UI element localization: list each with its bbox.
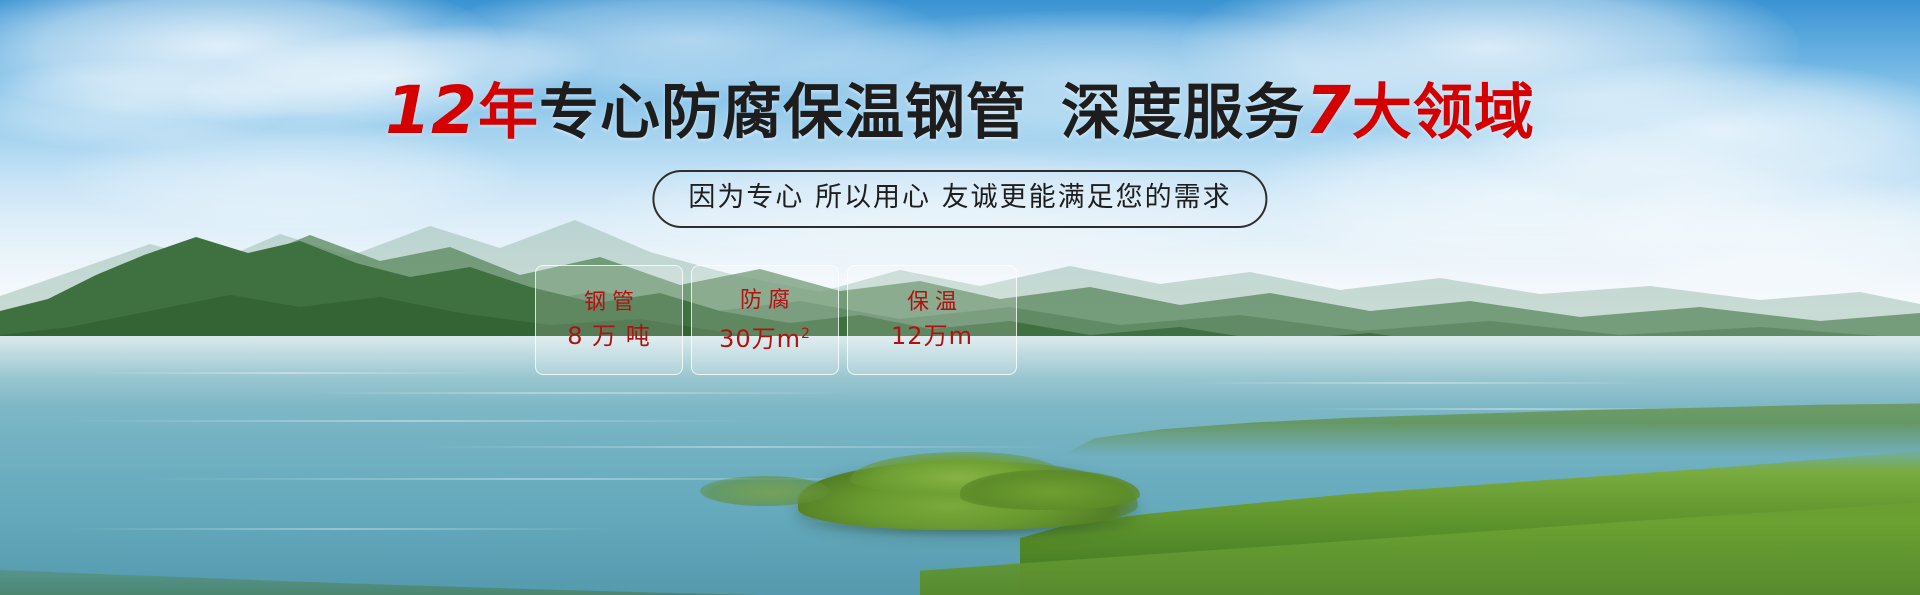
headline-service-text: 深度服务 — [1061, 78, 1305, 148]
stat-card-value: 8 万 吨 — [567, 322, 651, 350]
stat-card-value-superscript: 2 — [801, 326, 811, 342]
stat-card-steel-pipe: 钢管 8 万 吨 — [535, 265, 683, 375]
hero-banner: 12年专心防腐保温钢管深度服务7大领域 因为专心 所以用心 友诚更能满足您的需求… — [0, 0, 1920, 595]
stat-card-value-text: 8 万 吨 — [567, 322, 651, 350]
stat-card-anticorrosion: 防腐 30万m2 — [691, 265, 839, 375]
stat-card-group: 钢管 8 万 吨 防腐 30万m2 保温 12万m — [535, 265, 1017, 375]
stat-card-label: 保温 — [901, 290, 963, 316]
subtitle-text: 因为专心 所以用心 友诚更能满足您的需求 — [688, 182, 1231, 213]
stat-card-value-text: 12万m — [891, 322, 973, 350]
stat-card-label: 钢管 — [578, 290, 640, 316]
headline: 12年专心防腐保温钢管深度服务7大领域 — [0, 78, 1920, 146]
headline-years-number: 12 — [385, 72, 478, 149]
subtitle-pill: 因为专心 所以用心 友诚更能满足您的需求 — [652, 170, 1267, 228]
headline-years-unit: 年 — [478, 78, 539, 148]
headline-count-suffix: 大领域 — [1352, 78, 1535, 148]
headline-count-number: 7 — [1305, 72, 1352, 149]
stat-card-insulation: 保温 12万m — [847, 265, 1017, 375]
banner-content: 12年专心防腐保温钢管深度服务7大领域 因为专心 所以用心 友诚更能满足您的需求… — [0, 0, 1920, 595]
stat-card-value: 12万m — [891, 322, 973, 350]
stat-card-value-text: 30万m — [719, 325, 801, 353]
headline-main-text: 专心防腐保温钢管 — [539, 78, 1027, 148]
stat-card-value: 30万m2 — [719, 320, 811, 353]
stat-card-label: 防腐 — [734, 288, 796, 314]
